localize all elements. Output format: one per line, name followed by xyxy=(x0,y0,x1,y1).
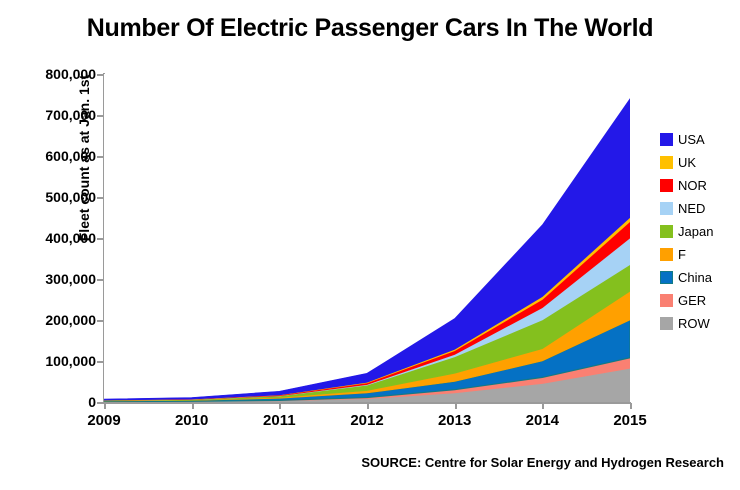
y-tick-mark xyxy=(97,320,104,322)
x-tick-label: 2014 xyxy=(507,412,577,429)
stacked-area-series xyxy=(104,74,630,402)
y-tick-label: 300,000 xyxy=(4,271,96,287)
legend-item-ger[interactable]: GER xyxy=(660,289,738,312)
y-tick-mark xyxy=(97,361,104,363)
legend-swatch-icon xyxy=(660,133,673,146)
legend-swatch-icon xyxy=(660,248,673,261)
y-tick-mark xyxy=(97,279,104,281)
x-tick-mark xyxy=(192,403,194,409)
y-tick-label: 0 xyxy=(4,394,96,410)
y-tick-label: 400,000 xyxy=(4,230,96,246)
y-tick-mark xyxy=(97,74,104,76)
legend-item-label: China xyxy=(678,270,712,285)
legend-item-usa[interactable]: USA xyxy=(660,128,738,151)
x-tick-mark xyxy=(367,403,369,409)
x-tick-label: 2012 xyxy=(332,412,402,429)
x-tick-label: 2011 xyxy=(244,412,314,429)
legend-swatch-icon xyxy=(660,179,673,192)
legend-item-f[interactable]: F xyxy=(660,243,738,266)
legend-swatch-icon xyxy=(660,202,673,215)
y-tick-mark xyxy=(97,197,104,199)
y-tick-label: 200,000 xyxy=(4,312,96,328)
page-title: Number Of Electric Passenger Cars In The… xyxy=(0,14,740,43)
chart-root: Number Of Electric Passenger Cars In The… xyxy=(0,0,740,490)
legend-item-ned[interactable]: NED xyxy=(660,197,738,220)
y-tick-label: 500,000 xyxy=(4,189,96,205)
legend-item-label: F xyxy=(678,247,686,262)
y-tick-mark xyxy=(97,115,104,117)
y-tick-label: 600,000 xyxy=(4,148,96,164)
y-tick-mark xyxy=(97,156,104,158)
legend-item-label: USA xyxy=(678,132,705,147)
legend-swatch-icon xyxy=(660,317,673,330)
x-tick-label: 2010 xyxy=(157,412,227,429)
chart-legend: USAUKNORNEDJapanFChinaGERROW xyxy=(660,128,738,335)
legend-item-label: ROW xyxy=(678,316,710,331)
plot-area xyxy=(104,74,630,402)
legend-swatch-icon xyxy=(660,271,673,284)
legend-item-row[interactable]: ROW xyxy=(660,312,738,335)
legend-item-label: UK xyxy=(678,155,696,170)
x-tick-mark xyxy=(630,403,632,409)
legend-swatch-icon xyxy=(660,294,673,307)
legend-item-japan[interactable]: Japan xyxy=(660,220,738,243)
legend-item-label: NED xyxy=(678,201,705,216)
x-tick-mark xyxy=(455,403,457,409)
legend-item-nor[interactable]: NOR xyxy=(660,174,738,197)
y-tick-label: 100,000 xyxy=(4,353,96,369)
legend-item-label: NOR xyxy=(678,178,707,193)
y-tick-label: 700,000 xyxy=(4,107,96,123)
legend-swatch-icon xyxy=(660,156,673,169)
y-tick-mark xyxy=(97,238,104,240)
source-note: SOURCE: Centre for Solar Energy and Hydr… xyxy=(361,455,724,470)
x-tick-mark xyxy=(542,403,544,409)
legend-item-uk[interactable]: UK xyxy=(660,151,738,174)
x-tick-label: 2009 xyxy=(69,412,139,429)
x-tick-label: 2013 xyxy=(420,412,490,429)
legend-swatch-icon xyxy=(660,225,673,238)
legend-item-china[interactable]: China xyxy=(660,266,738,289)
y-tick-label: 800,000 xyxy=(4,66,96,82)
legend-item-label: GER xyxy=(678,293,706,308)
x-tick-label: 2015 xyxy=(595,412,665,429)
x-tick-mark xyxy=(104,403,106,409)
legend-item-label: Japan xyxy=(678,224,713,239)
y-tick-mark xyxy=(97,402,104,404)
x-tick-mark xyxy=(279,403,281,409)
